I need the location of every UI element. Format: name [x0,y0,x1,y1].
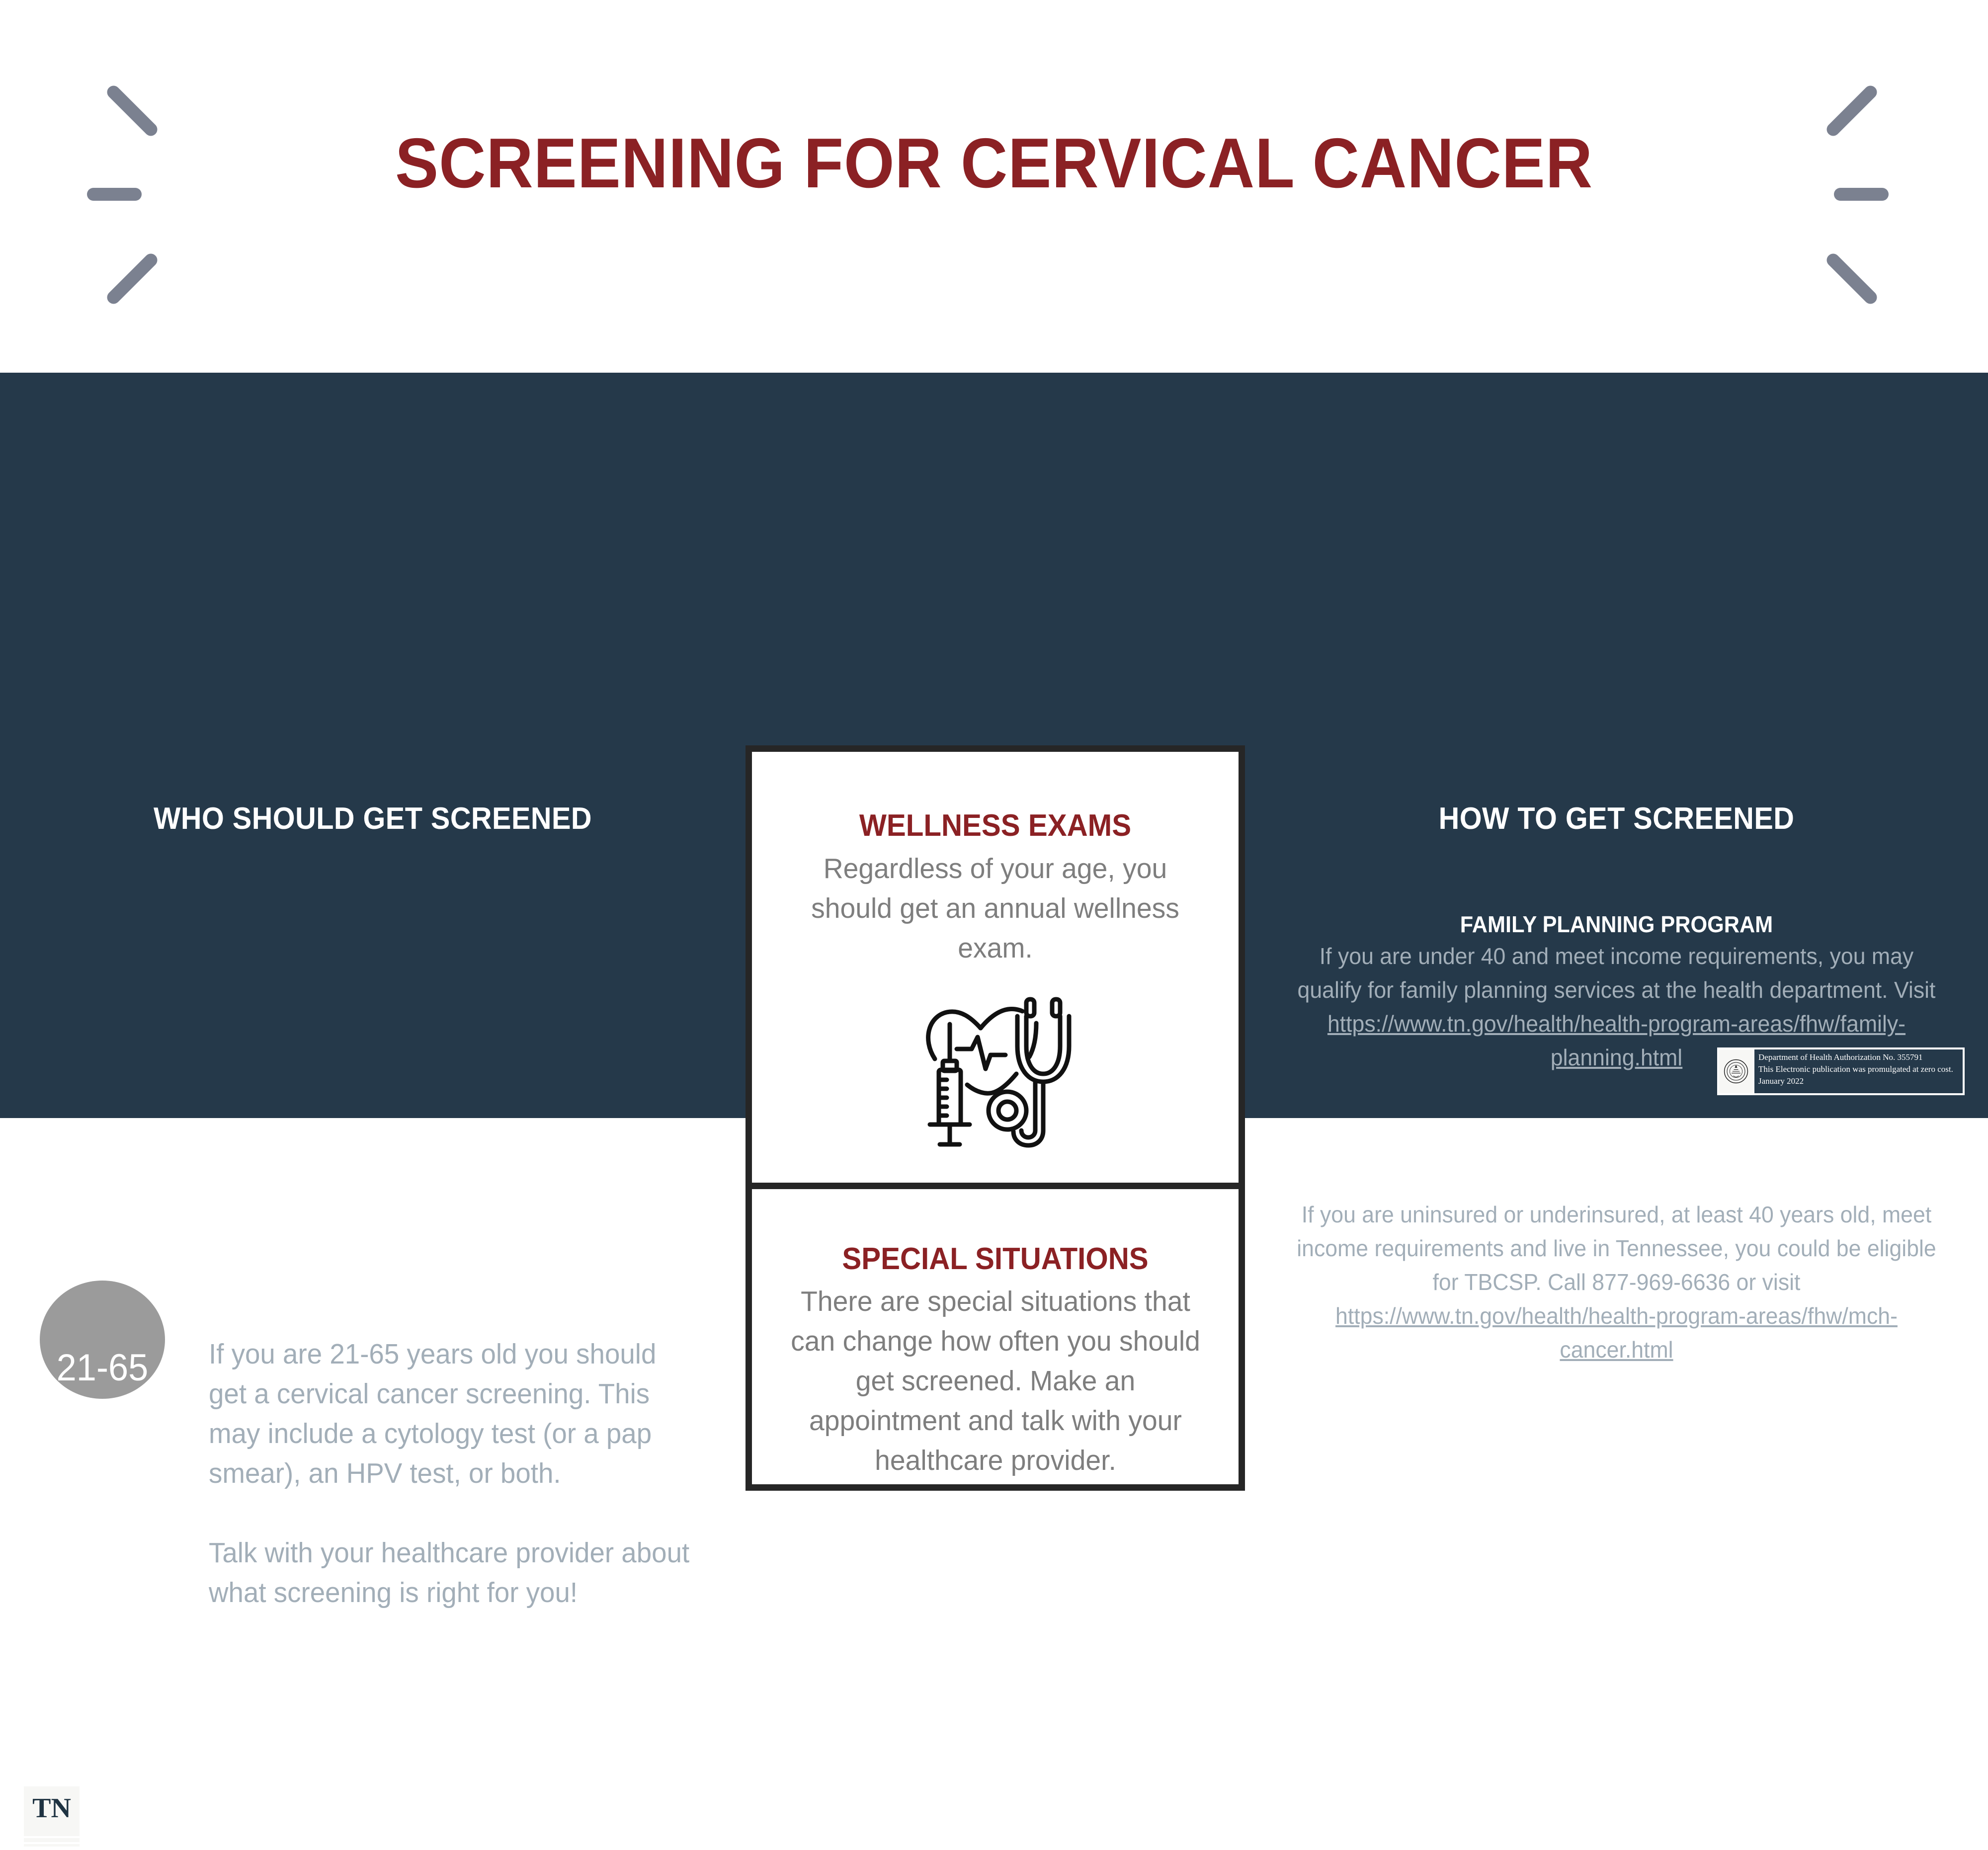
deco-bar-middle-right-icon [1834,188,1889,201]
wellness-card-title: WELLNESS EXAMS [766,810,1224,841]
header-banner: SCREENING FOR CERVICAL CANCER [0,0,1988,373]
heart-ekg-syringe-stethoscope-icon [911,985,1080,1154]
family-planning-title: FAMILY PLANNING PROGRAM [1267,909,1966,939]
tn-department-of-health-logo: TN Department of Health [24,1786,233,1850]
authorization-line-2: This Electronic publication was promulga… [1758,1063,1963,1075]
deco-bar-top-right-icon [1824,83,1880,139]
state-seal-icon [1719,1049,1754,1093]
tn-logo-mark: TN [24,1786,80,1836]
age-badge: 21-65 [40,1281,165,1399]
special-card-body: There are special situations that can ch… [786,1282,1205,1480]
program-tbcsp: TENNESSEE BREAST AND CERVICAL SCREENING … [1245,1138,1988,1367]
right-column-heading: HOW TO GET SCREENED [1271,801,1962,836]
age-paragraph-1: If you are 21-65 years old you should ge… [209,1334,691,1493]
tbcsp-body: If you are uninsured or underinsured, at… [1256,1198,1977,1367]
left-column-heading: WHO SHOULD GET SCREENED [26,801,720,836]
special-card-title: SPECIAL SITUATIONS [766,1244,1224,1275]
tn-logo-underline [24,1838,80,1842]
tbcsp-text-before: If you are uninsured or underinsured, at… [1297,1202,1936,1295]
age-item-body: If you are 21-65 years old you should ge… [209,1334,691,1612]
wellness-card-body: Regardless of your age, you should get a… [789,849,1201,968]
tn-logo-line2: Health [88,1817,167,1843]
deco-bar-bottom-right-icon [1824,251,1880,307]
column-who-should-get-screened: WHO SHOULD GET SCREENED 21-65 21-65 YEAR… [0,745,745,1491]
tn-logo-mark-text: TN [24,1794,80,1822]
age-paragraph-2: Talk with your healthcare provider about… [209,1533,691,1612]
family-planning-text-before: If you are under 40 and meet income requ… [1298,943,1936,1003]
authorization-box: Department of Health Authorization No. 3… [1717,1047,1965,1095]
tn-logo-underline-thin [24,1844,80,1847]
main-content: WHO SHOULD GET SCREENED 21-65 21-65 YEAR… [0,373,1988,1118]
deco-bar-bottom-left-icon [104,251,160,307]
authorization-line-1: Department of Health Authorization No. 3… [1758,1051,1963,1063]
age-badge-label: 21-65 [43,1349,162,1387]
authorization-text: Department of Health Authorization No. 3… [1754,1049,1963,1093]
tbcsp-link[interactable]: https://www.tn.gov/health/health-program… [1335,1303,1898,1363]
card-special-situations: SPECIAL SITUATIONS There are special sit… [752,1189,1239,1484]
age-item-title: 21-65 YEARS OLD [209,1276,680,1314]
page-title: SCREENING FOR CERVICAL CANCER [80,128,1908,199]
authorization-line-3: January 2022 [1758,1075,1963,1087]
column-how-to-get-screened: HOW TO GET SCREENED FAMILY PLANNING PROG… [1245,745,1988,1491]
tbcsp-title: TENNESSEE BREAST AND CERVICAL SCREENING … [1267,1138,1966,1198]
tn-logo-line1: Department of [88,1796,195,1813]
decorative-marks-right [1814,99,1894,179]
column-cards: WELLNESS EXAMS Regardless of your age, y… [745,745,1245,1491]
